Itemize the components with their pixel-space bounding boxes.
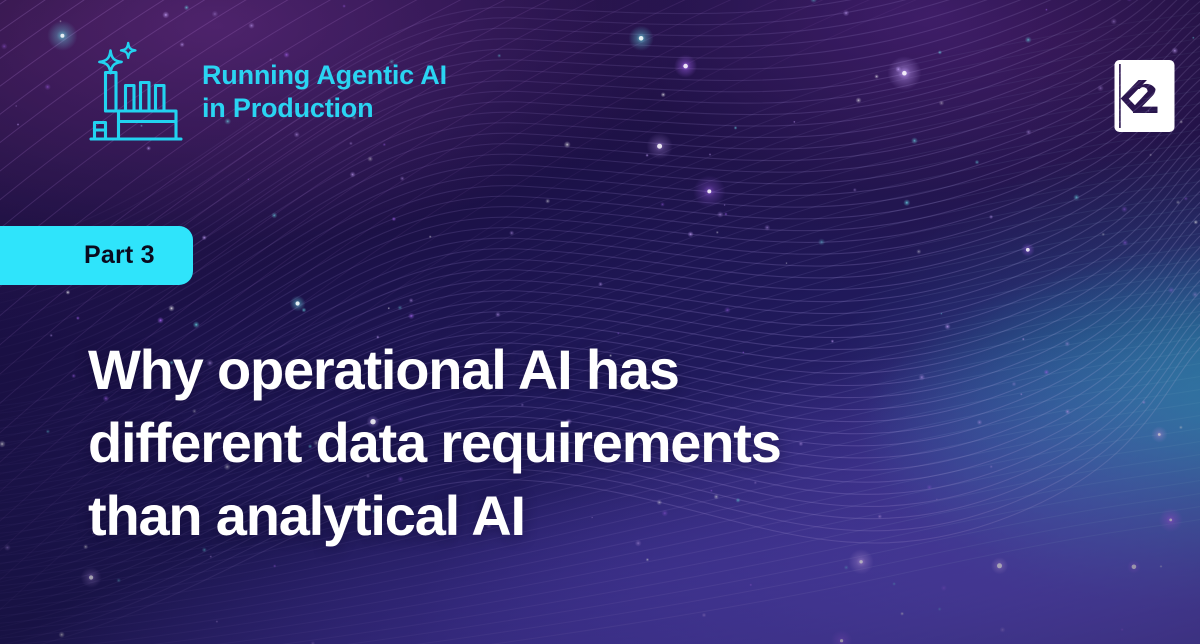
k2-logo[interactable]: [1104, 58, 1176, 134]
part-badge: Part 3: [0, 226, 193, 285]
part-badge-label: Part 3: [84, 241, 155, 270]
header-lockup: Running Agentic AI in Production: [88, 40, 447, 144]
factory-with-sparkles-icon: [88, 40, 184, 144]
k2-logo-plate: [1115, 60, 1175, 132]
promo-banner: Running Agentic AI in Production: [0, 0, 1200, 644]
k2-logo-stem: [1115, 64, 1120, 128]
page-title: Why operational AI has different data re…: [88, 334, 1048, 552]
eyebrow-title: Running Agentic AI in Production: [202, 59, 447, 125]
